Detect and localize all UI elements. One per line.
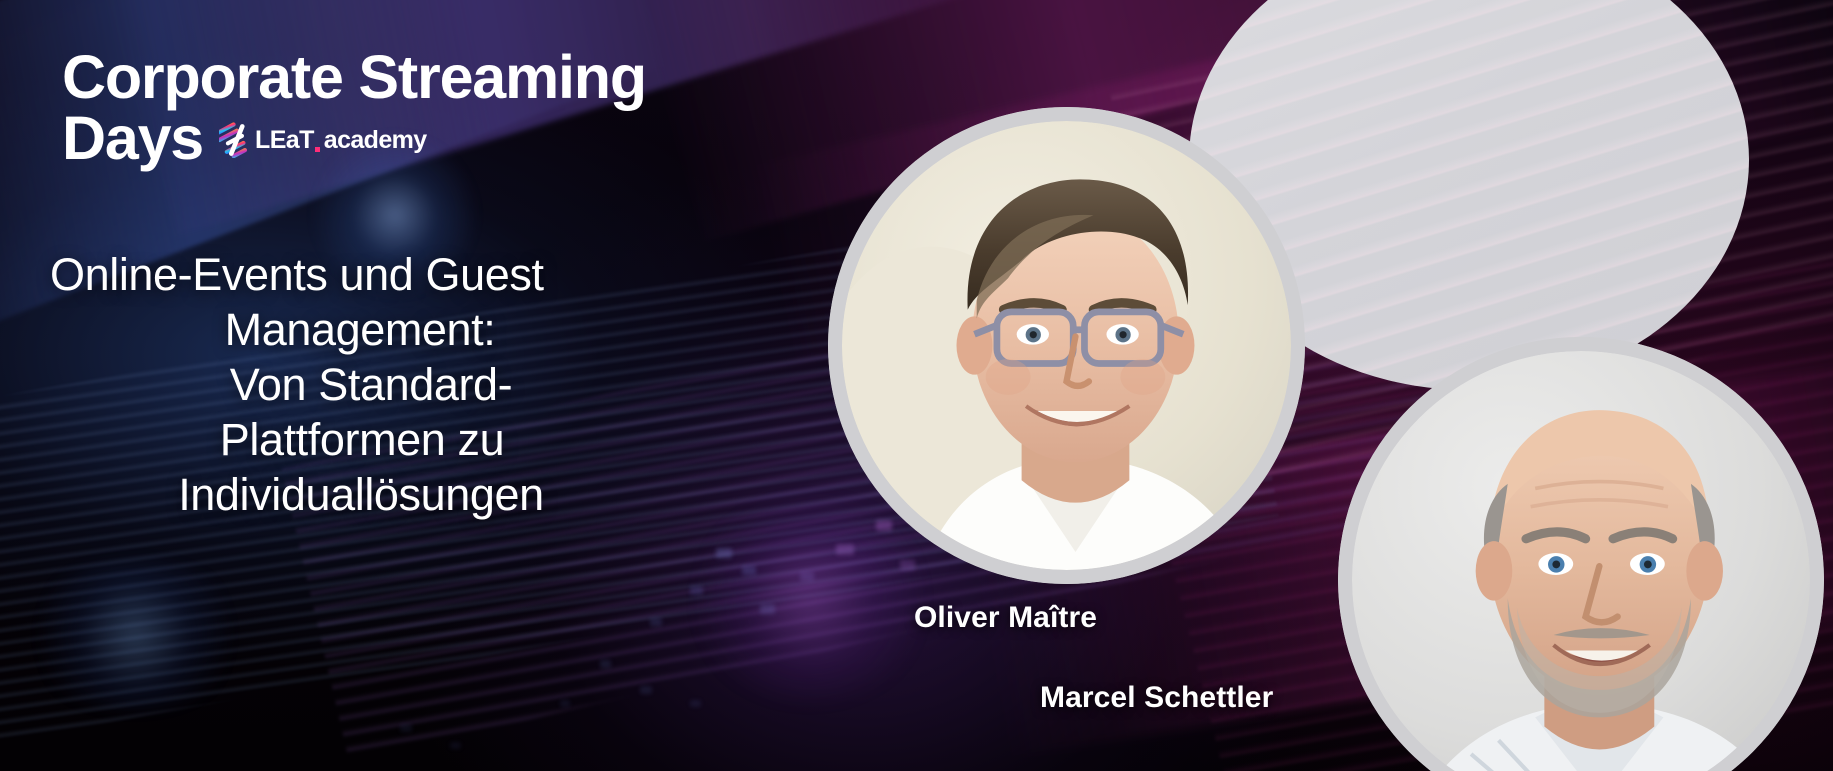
session-title-line-2: Management:: [50, 303, 670, 358]
speaker-photo-marcel: [1352, 351, 1810, 771]
event-banner: Corporate Streaming Days: [0, 0, 1833, 771]
brand-lockup: Corporate Streaming Days: [62, 48, 782, 167]
leat-stripes-mark-icon: [219, 122, 249, 158]
leat-word-leat: LEaT: [255, 126, 314, 155]
brand-title-line2: Days: [62, 109, 203, 168]
speaker-name-oliver: Oliver Maître: [914, 601, 1097, 635]
leat-dot-icon: [315, 147, 320, 152]
session-title-line-3: Von Standard-: [50, 358, 670, 413]
speaker-portrait-oliver: [828, 107, 1305, 584]
speaker-name-marcel: Marcel Schettler: [1040, 681, 1273, 715]
leat-academy-logo: LEaTacademy: [219, 122, 427, 158]
session-title-line-1: Online-Events und Guest: [50, 248, 670, 303]
session-title-line-5: Individuallösungen: [50, 468, 670, 523]
leat-word-academy: academy: [324, 126, 427, 155]
speaker-photo-oliver: [842, 121, 1291, 570]
brand-title-line1: Corporate Streaming: [62, 48, 782, 107]
session-title: Online-Events und Guest Management: Von …: [50, 248, 670, 522]
leat-academy-wordmark: LEaTacademy: [255, 126, 427, 155]
session-title-line-4: Plattformen zu: [50, 413, 670, 468]
